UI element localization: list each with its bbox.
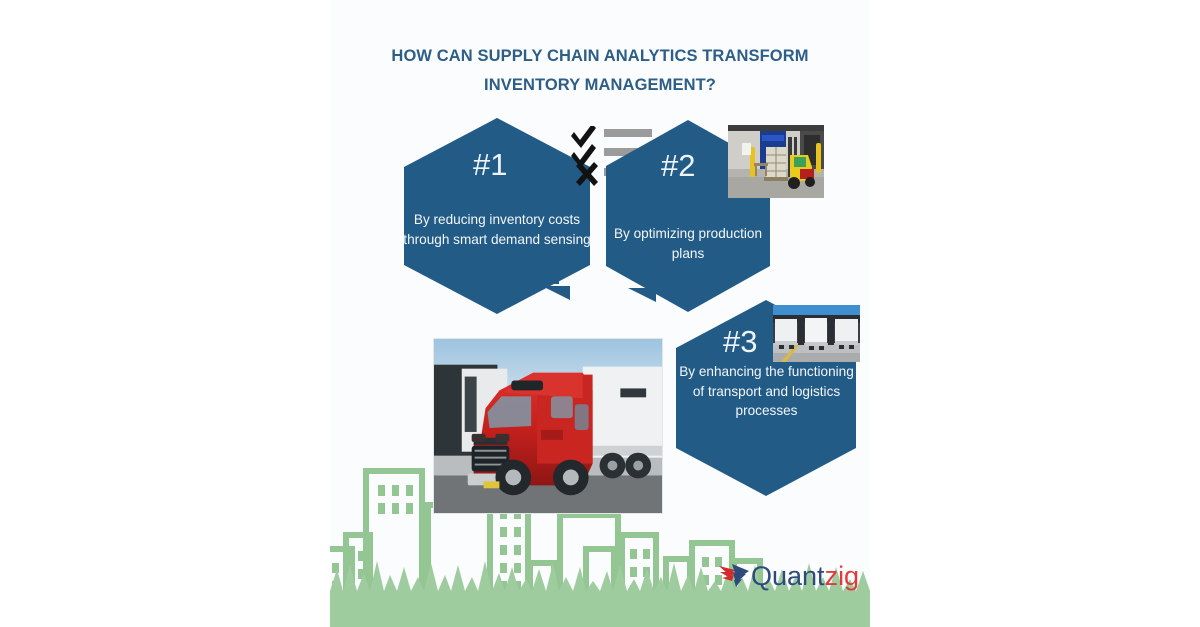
dock-image — [773, 305, 860, 362]
quantzig-wordmark: Quantzig — [751, 558, 859, 594]
title-line-1: HOW CAN SUPPLY CHAIN ANALYTICS TRANSFORM — [391, 47, 808, 65]
arrow-fan-glyph — [718, 563, 752, 589]
card-1[interactable]: #1 By reducing inventory costs through s… — [394, 118, 599, 313]
loading-dock-trailers-photo — [773, 305, 860, 362]
red-semi-truck-photo — [433, 338, 663, 514]
infographic-root: HOW CAN SUPPLY CHAIN ANALYTICS TRANSFORM… — [0, 0, 1200, 627]
card-1-number: #1 — [473, 149, 507, 180]
card-1-text: By reducing inventory costs through smar… — [402, 210, 592, 249]
forklift-image — [728, 125, 824, 198]
truck-image — [434, 339, 662, 513]
card-2-text: By optimizing production plans — [604, 224, 772, 263]
quantzig-logo[interactable]: Quantzig — [718, 558, 863, 594]
title-line-2: INVENTORY MANAGEMENT? — [484, 76, 716, 94]
logo-text-quant: Quant — [751, 561, 825, 591]
quantzig-arrow-mark-icon — [718, 563, 752, 589]
infographic-canvas: HOW CAN SUPPLY CHAIN ANALYTICS TRANSFORM… — [330, 0, 870, 627]
card-2-number: #2 — [661, 150, 695, 181]
card-3-number: #3 — [723, 326, 757, 357]
card-3-text: By enhancing the functioning of transpor… — [674, 362, 859, 421]
logo-text-zig: zig — [825, 561, 860, 591]
warehouse-forklift-photo — [728, 125, 824, 198]
page-title: HOW CAN SUPPLY CHAIN ANALYTICS TRANSFORM… — [330, 42, 870, 100]
